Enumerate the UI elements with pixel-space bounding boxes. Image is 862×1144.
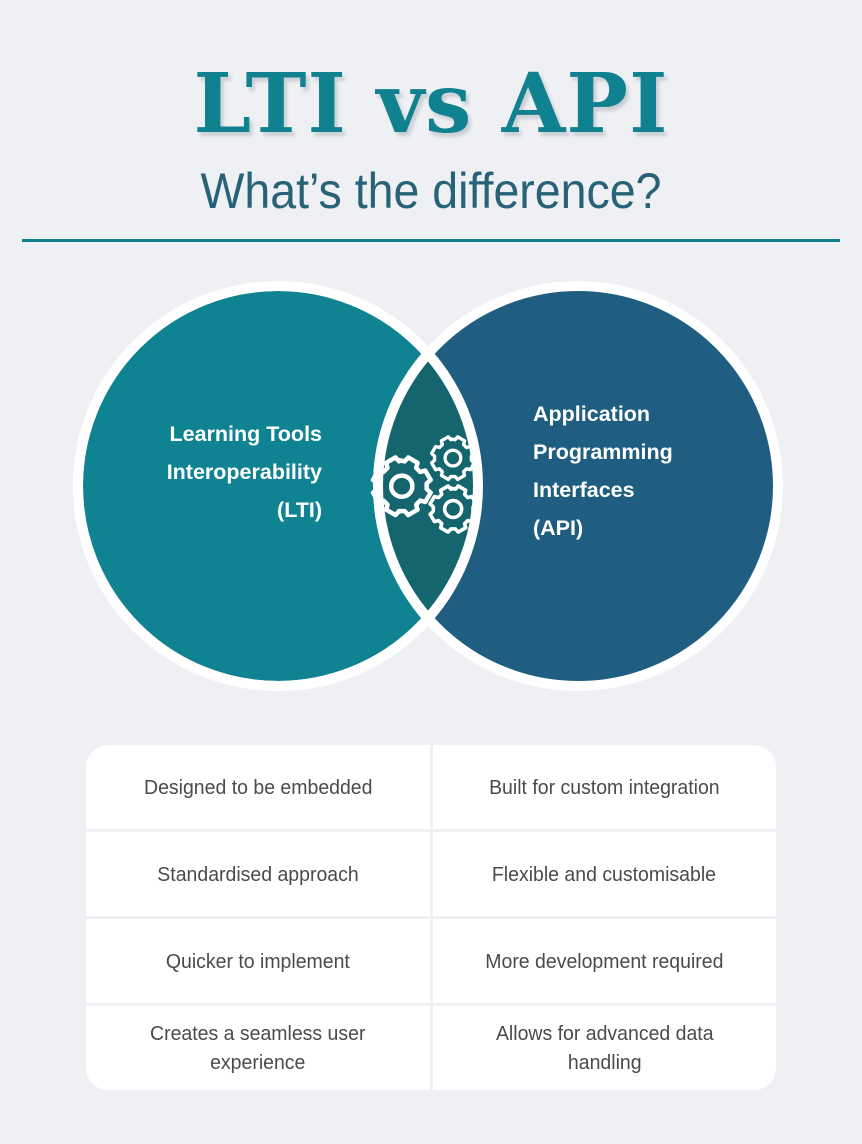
table-cell-lti-text: Designed to be embedded: [144, 773, 372, 802]
table-cell-api-text: More development required: [485, 947, 723, 976]
table-row: Designed to be embedded Built for custom…: [86, 745, 776, 829]
page-title: LTI vs API: [0, 58, 862, 150]
table-cell-lti: Designed to be embedded: [86, 745, 430, 829]
venn-label-api-line4: (API): [533, 509, 768, 547]
table-cell-api: Flexible and customisable: [433, 832, 777, 916]
table-cell-lti: Standardised approach: [86, 832, 430, 916]
table-cell-api-text: Built for custom integration: [489, 773, 720, 802]
table-cell-lti: Quicker to implement: [86, 919, 430, 1003]
venn-label-lti-line1: Learning Tools: [100, 415, 322, 453]
table-cell-lti: Creates a seamless user experience: [86, 1006, 430, 1090]
venn-label-api-line2: Programming: [533, 433, 768, 471]
table-cell-api: Allows for advanced data handling: [433, 1006, 777, 1090]
table-row: Quicker to implement More development re…: [86, 919, 776, 1003]
table-cell-api: More development required: [433, 919, 777, 1003]
header: LTI vs API What’s the difference?: [0, 0, 862, 250]
table-cell-api-text: Flexible and customisable: [492, 860, 716, 889]
table-row: Standardised approach Flexible and custo…: [86, 832, 776, 916]
table-cell-lti-text: Quicker to implement: [166, 947, 350, 976]
venn-label-lti: Learning Tools Interoperability (LTI): [100, 415, 322, 529]
venn-label-lti-line3: (LTI): [100, 491, 322, 529]
venn-label-api-line3: Interfaces: [533, 471, 768, 509]
page-subtitle: What’s the difference?: [30, 160, 832, 222]
header-divider: [22, 239, 840, 242]
table-cell-lti-text: Standardised approach: [157, 860, 358, 889]
table-cell-lti-text: Creates a seamless user experience: [110, 1019, 406, 1077]
venn-diagram: Learning Tools Interoperability (LTI) Ap…: [0, 255, 862, 725]
table-row: Creates a seamless user experience Allow…: [86, 1006, 776, 1090]
table-cell-api: Built for custom integration: [433, 745, 777, 829]
venn-label-lti-line2: Interoperability: [100, 453, 322, 491]
table-cell-api-text: Allows for advanced data handling: [456, 1019, 752, 1077]
venn-label-api: Application Programming Interfaces (API): [533, 395, 768, 547]
comparison-table: Designed to be embedded Built for custom…: [86, 745, 776, 1090]
venn-label-api-line1: Application: [533, 395, 768, 433]
